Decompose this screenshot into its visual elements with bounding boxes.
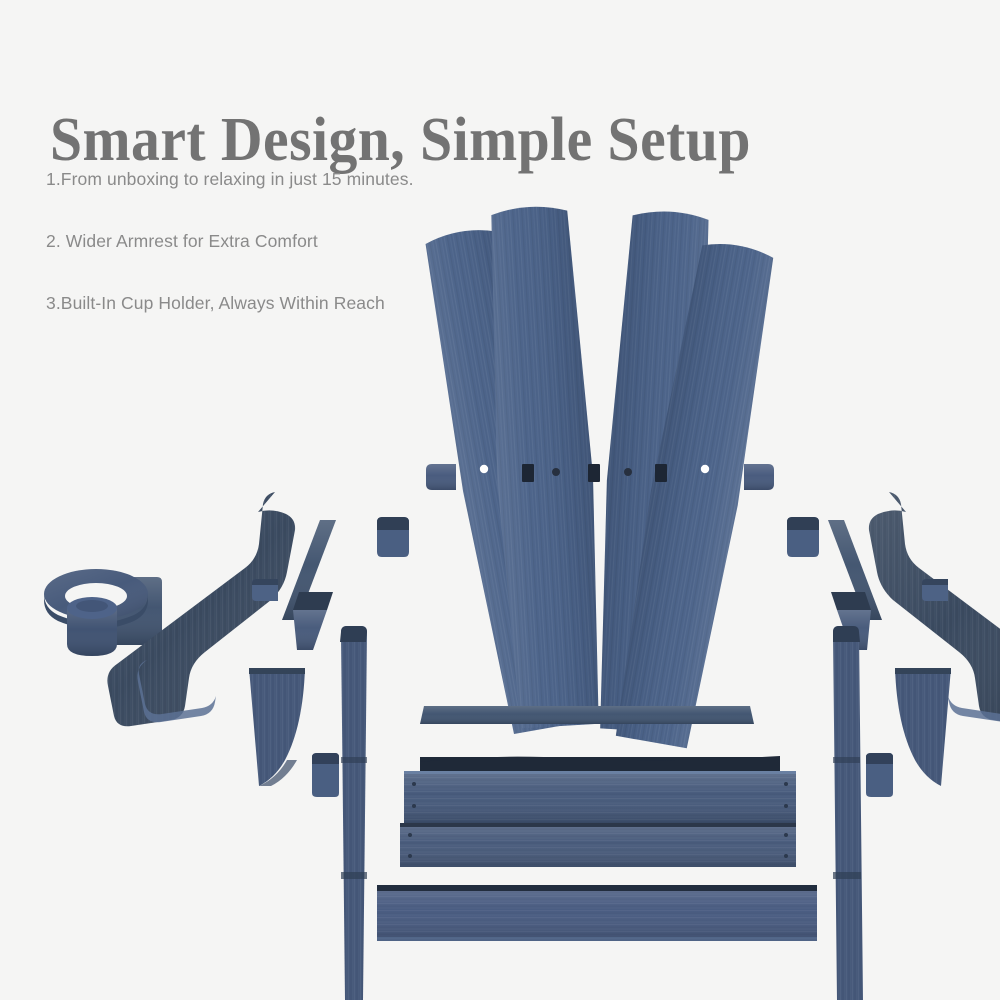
block-right-edge [922, 579, 948, 601]
leg-post-left [340, 626, 367, 1000]
curved-brace-left [249, 668, 305, 786]
seat-slat-upper [404, 771, 796, 823]
cup-holder [44, 569, 162, 656]
spacer-right [787, 517, 819, 557]
front-rail [377, 885, 817, 941]
feature-list: 1.From unboxing to relaxing in just 15 m… [46, 168, 606, 354]
page-title: Smart Design, Simple Setup [50, 104, 751, 176]
right-side-parts [787, 492, 1000, 1000]
leg-post-right [833, 626, 863, 1000]
block-left [252, 579, 278, 601]
block-right [866, 753, 893, 797]
backrest-lower-rail [420, 706, 754, 724]
curved-brace-right [895, 668, 951, 786]
left-side-parts [44, 492, 409, 1000]
feature-item-1: 1.From unboxing to relaxing in just 15 m… [46, 168, 606, 190]
product-feature-page: Smart Design, Simple Setup 1.From unboxi… [0, 0, 1000, 1000]
seat-slats [400, 756, 796, 867]
spacer-left [377, 517, 409, 557]
feature-item-3: 3.Built-In Cup Holder, Always Within Rea… [46, 292, 606, 314]
seat-slat-lower [400, 823, 796, 867]
block-left-lower [312, 753, 339, 797]
feature-item-2: 2. Wider Armrest for Extra Comfort [46, 230, 606, 252]
